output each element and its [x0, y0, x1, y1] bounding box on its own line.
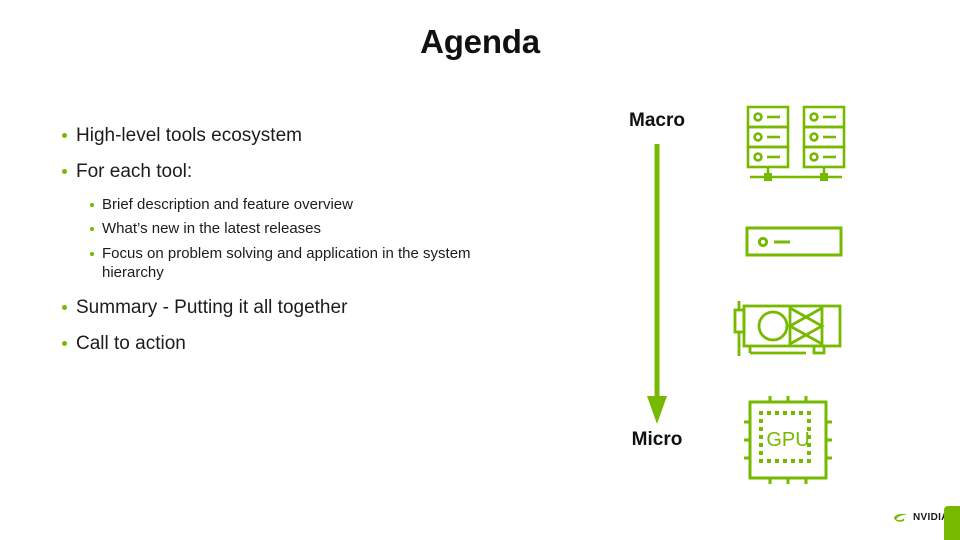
bullet-text: What’s new in the latest releases	[102, 219, 321, 238]
bullet-dot-icon	[62, 341, 67, 346]
bullet-dot-icon	[90, 252, 94, 256]
bullet-text: High-level tools ecosystem	[76, 123, 302, 148]
bullet-dot-icon	[62, 169, 67, 174]
page-title: Agenda	[0, 23, 960, 61]
gpu-chip-icon: GPU	[744, 396, 832, 484]
down-arrow-icon	[637, 144, 677, 424]
gpu-chip-label: GPU	[766, 429, 809, 451]
server-racks-icon	[744, 104, 848, 186]
list-item: High-level tools ecosystem	[62, 123, 532, 148]
list-item: For each tool:	[62, 159, 532, 184]
macro-label: Macro	[598, 110, 716, 132]
agenda-bullet-list: High-level tools ecosystem For each tool…	[62, 123, 532, 367]
list-item: Summary - Putting it all together	[62, 295, 532, 320]
bullet-text: Summary - Putting it all together	[76, 295, 347, 320]
server-node-icon	[744, 222, 848, 262]
gpu-card-icon	[730, 298, 850, 360]
bullet-dot-icon	[90, 203, 94, 207]
bullet-text: Brief description and feature overview	[102, 195, 353, 214]
micro-label: Micro	[598, 429, 716, 451]
bullet-dot-icon	[90, 227, 94, 231]
bullet-dot-icon	[62, 133, 67, 138]
nvidia-logo: NVIDIA	[893, 512, 949, 523]
bullet-text: Focus on problem solving and application…	[102, 244, 532, 282]
list-item: What’s new in the latest releases	[90, 219, 532, 238]
list-item: Focus on problem solving and application…	[90, 244, 532, 282]
brand-accent-bar	[944, 506, 960, 540]
list-item: Call to action	[62, 331, 532, 356]
bullet-text: For each tool:	[76, 159, 192, 184]
slide-canvas: Agenda High-level tools ecosystem For ea…	[0, 0, 960, 540]
nvidia-eye-icon	[893, 512, 909, 523]
bullet-dot-icon	[62, 305, 67, 310]
bullet-text: Call to action	[76, 331, 186, 356]
list-item: Brief description and feature overview	[90, 195, 532, 214]
